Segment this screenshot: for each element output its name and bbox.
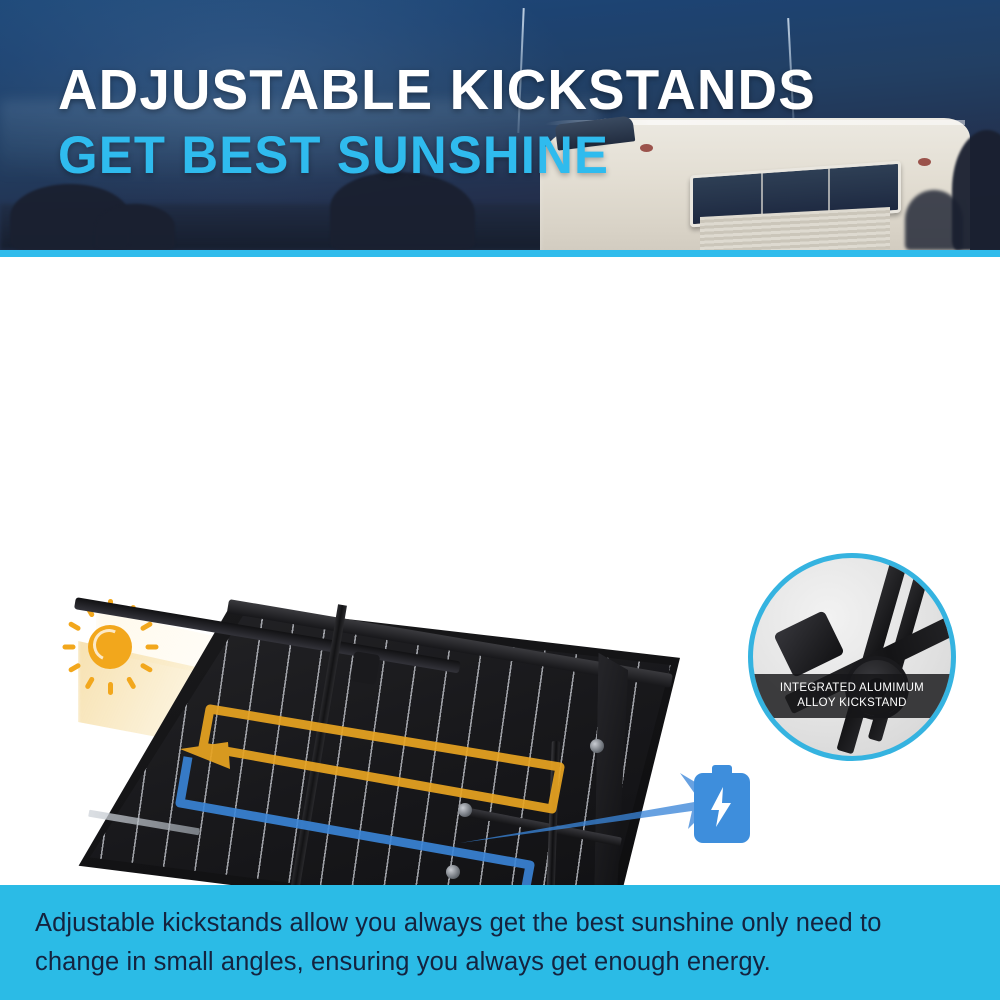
callout-label-line1: INTEGRATED ALUMIMUM (757, 681, 947, 696)
caption-text: Adjustable kickstands allow you always g… (35, 904, 965, 982)
header-banner: ADJUSTABLE KICKSTANDS GET BEST SUNSHINE (0, 0, 1000, 250)
lightning-bolt-icon (708, 785, 734, 829)
header-text-block: ADJUSTABLE KICKSTANDS GET BEST SUNSHINE (58, 62, 847, 182)
callout-label: INTEGRATED ALUMIMUM ALLOY KICKSTAND (753, 674, 951, 718)
kickstand-end-block (773, 610, 844, 678)
incoming-sunlight-arrow (180, 709, 560, 809)
outgoing-power-arrow (180, 757, 720, 885)
rv-marker-light-icon (918, 158, 931, 166)
infographic-page: ADJUSTABLE KICKSTANDS GET BEST SUNSHINE (0, 0, 1000, 1000)
energy-flow-arrows (60, 597, 760, 885)
tree-silhouette (95, 204, 175, 250)
callout-label-line2: ALLOY KICKSTAND (757, 696, 947, 711)
header-divider (0, 250, 1000, 257)
kickstand-closeup-callout: INTEGRATED ALUMIMUM ALLOY KICKSTAND (748, 553, 956, 761)
diagram-area: θ Summer θ = Latitude − 15° Fall and Spr… (0, 257, 1000, 885)
caption-bar: Adjustable kickstands allow you always g… (0, 885, 1000, 1000)
headline-secondary: GET BEST SUNSHINE (58, 129, 816, 182)
headline-primary: ADJUSTABLE KICKSTANDS (58, 62, 816, 119)
battery-charging-icon (694, 765, 750, 843)
